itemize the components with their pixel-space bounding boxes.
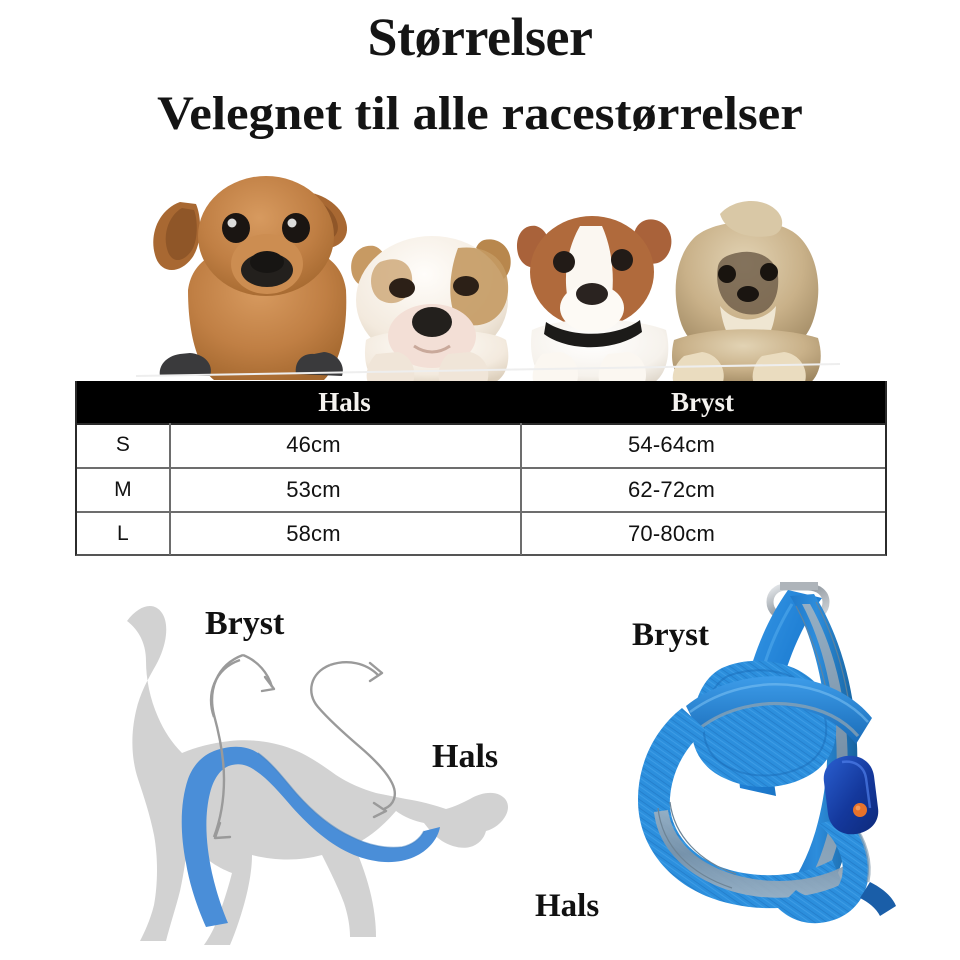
page-title: Størrelser: [0, 8, 960, 66]
cell-text: 54-64cm: [628, 432, 715, 458]
table-header-bryst: Bryst: [520, 381, 885, 423]
cell-text: S: [116, 433, 130, 457]
table-row: S 46cm 54-64cm: [77, 423, 885, 467]
page-subtitle: Velegnet til alle racestørrelser: [0, 88, 960, 140]
table-header-row: Hals Bryst: [77, 381, 885, 423]
cell-text: M: [114, 478, 132, 502]
table-cell-bryst: 70-80cm: [520, 513, 885, 555]
table-header-hals: Hals: [169, 381, 520, 423]
buckle: [824, 756, 879, 835]
dog-dachshund: [153, 176, 347, 380]
table-row: L 58cm 70-80cm: [77, 511, 885, 555]
buckle-button-icon: [853, 803, 867, 817]
cell-text: 46cm: [286, 432, 341, 458]
cell-text: 58cm: [286, 521, 341, 547]
size-table: Hals Bryst S 46cm 54-64cm M 53cm 62-72cm…: [75, 381, 887, 556]
diagram-label-neck: Hals: [432, 738, 498, 776]
dog-breeds-photo: [118, 140, 858, 385]
cell-text: 53cm: [286, 477, 341, 503]
diagram-label-chest: Bryst: [205, 605, 284, 643]
table-cell-size: L: [77, 513, 169, 555]
table-cell-bryst: 62-72cm: [520, 469, 885, 511]
table-cell-size: M: [77, 469, 169, 511]
table-cell-hals: 46cm: [169, 423, 520, 467]
photo-label-chest: Bryst: [632, 617, 709, 654]
cell-text: 70-80cm: [628, 521, 715, 547]
photo-label-neck: Hals: [535, 888, 599, 925]
table-cell-hals: 53cm: [169, 469, 520, 511]
size-guide-page: Størrelser Velegnet til alle racestørrel…: [0, 0, 960, 960]
cell-text: 62-72cm: [628, 477, 715, 503]
table-cell-hals: 58cm: [169, 513, 520, 555]
table-cell-size: S: [77, 423, 169, 467]
cell-text: L: [117, 522, 129, 546]
table-row: M 53cm 62-72cm: [77, 467, 885, 511]
table-cell-bryst: 54-64cm: [520, 423, 885, 467]
table-header-size: [77, 381, 169, 423]
